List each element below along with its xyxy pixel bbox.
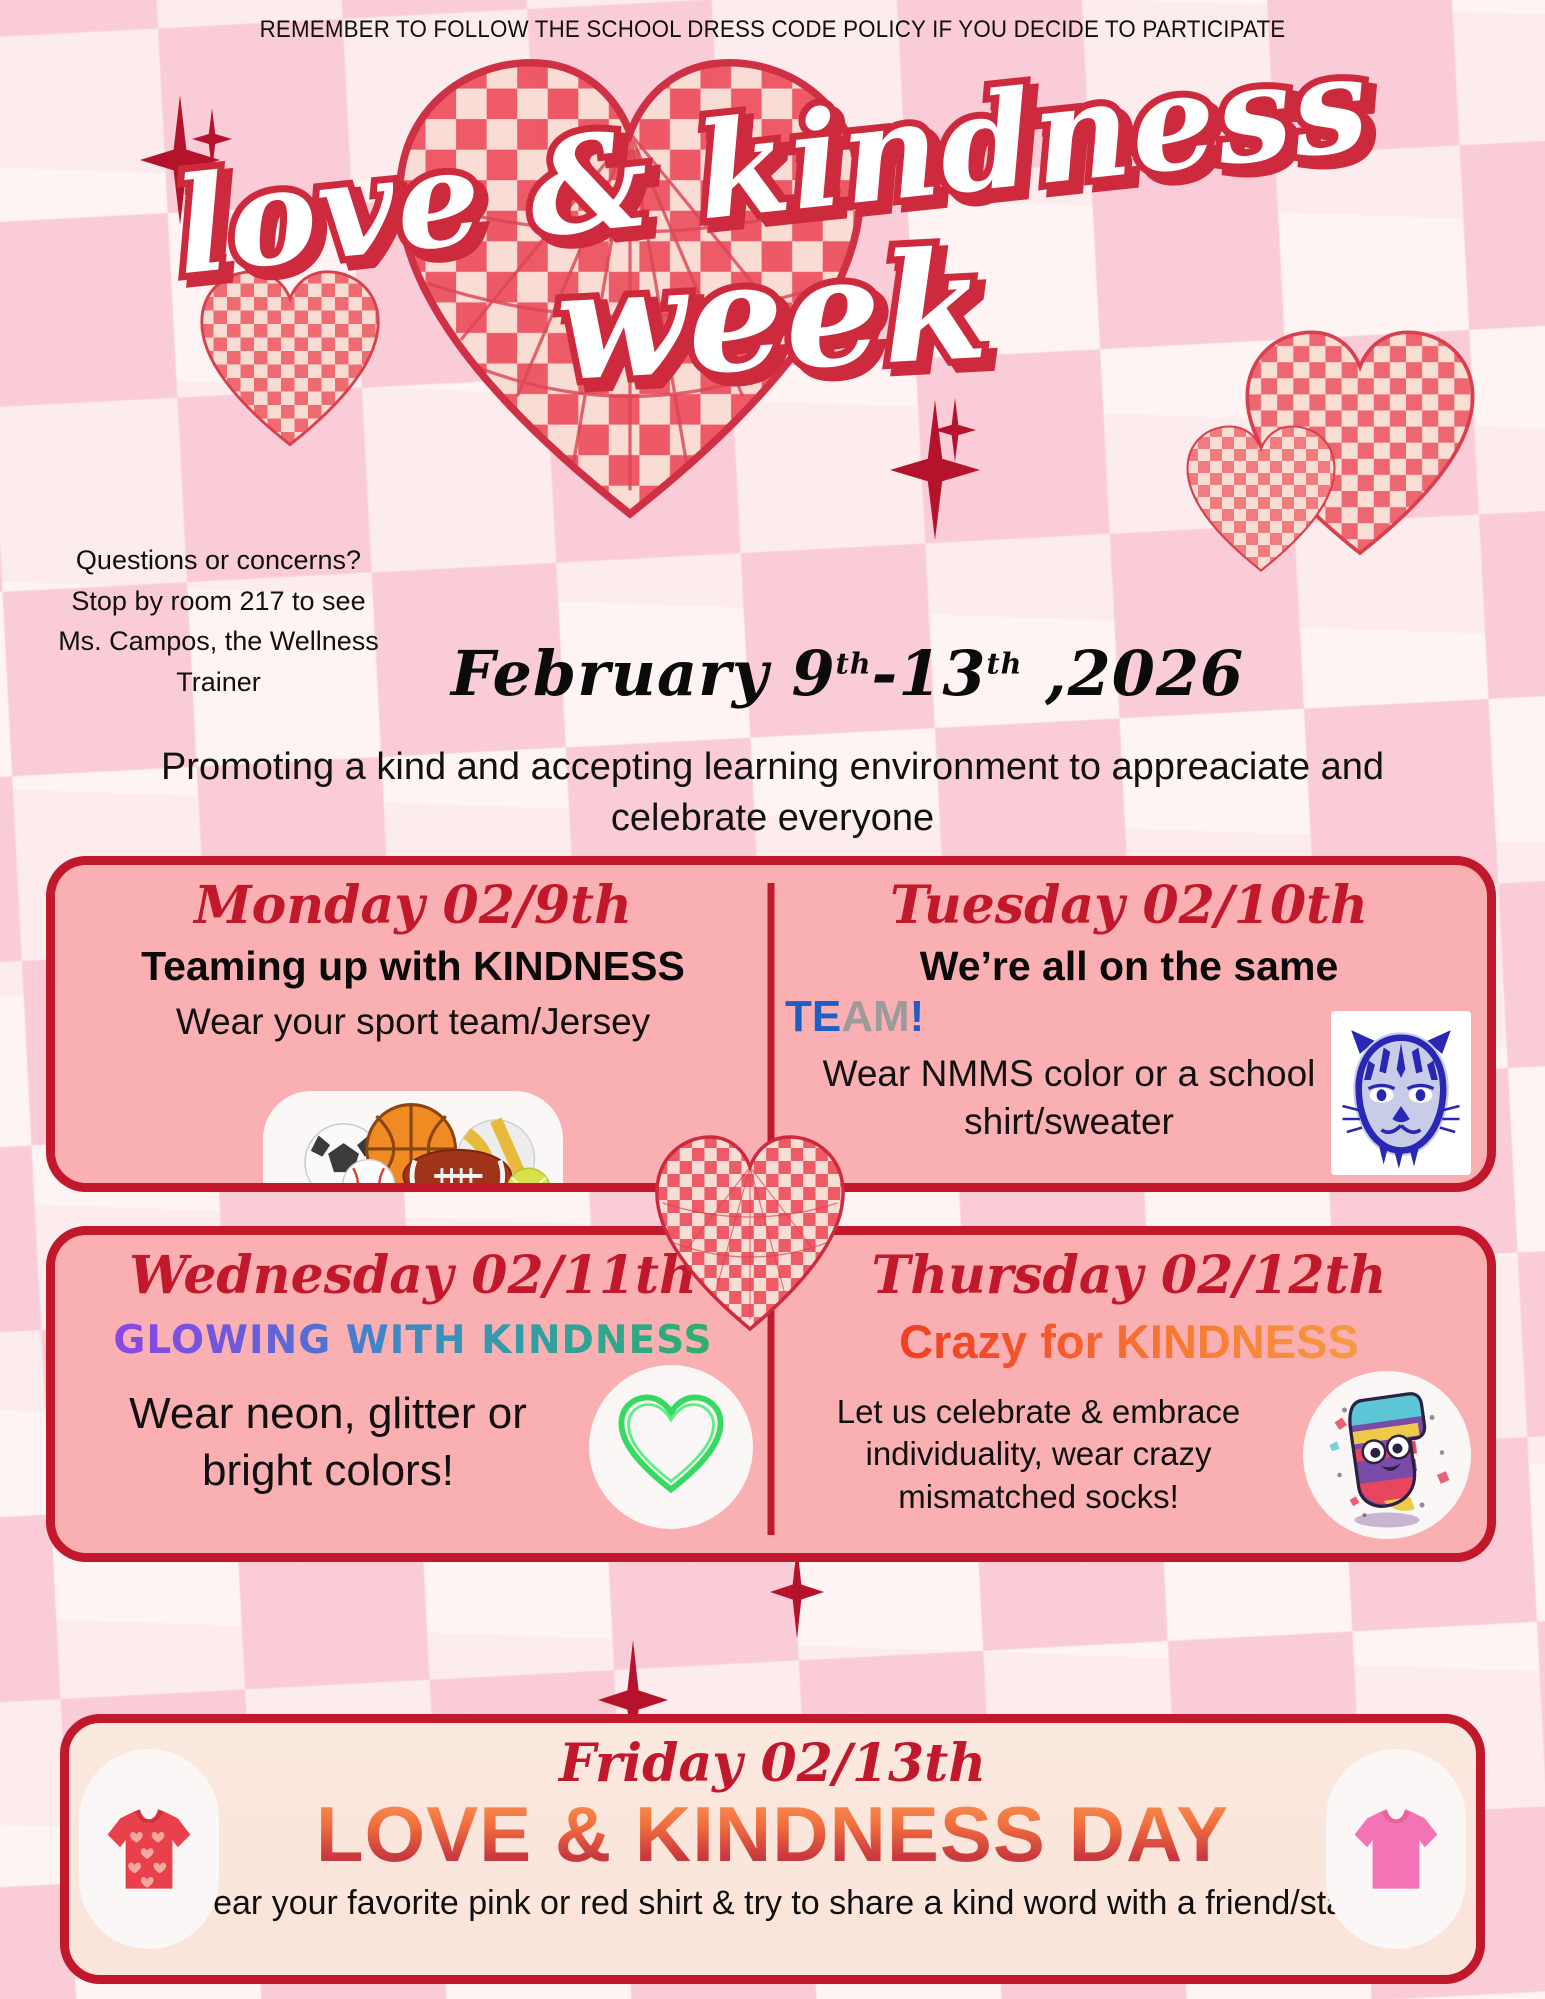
- flyer-poster: REMEMBER TO FOLLOW THE SCHOOL DRESS CODE…: [0, 0, 1545, 1999]
- day-card-row-2: Wednesday 02/11th GLOWING WITH KINDNESS …: [46, 1226, 1496, 1562]
- date-dash: -13: [872, 637, 987, 710]
- day-name-tuesday: Tuesday 02/10th: [785, 879, 1473, 934]
- date-sup2: th: [987, 646, 1023, 680]
- day-name-wednesday: Wednesday 02/11th: [69, 1249, 757, 1304]
- day-card-wednesday: Wednesday 02/11th GLOWING WITH KINDNESS …: [55, 1235, 771, 1553]
- day-body-monday: Wear your sport team/Jersey: [69, 998, 757, 1047]
- day-card-monday: Monday 02/9th Teaming up with KINDNESS W…: [55, 865, 771, 1183]
- tiger-mascot-icon: [1331, 1011, 1471, 1175]
- sports-balls-icon: [263, 1091, 563, 1192]
- day-headline-wednesday: GLOWING WITH KINDNESS: [113, 1318, 712, 1363]
- friday-big-headline: LOVE & KINDNESS DAY: [69, 1789, 1476, 1880]
- date-range: February 9th-13th ,2026: [0, 637, 1545, 710]
- neon-heart-icon: [589, 1365, 753, 1529]
- tagline: Promoting a kind and accepting learning …: [80, 742, 1465, 845]
- day-headline-tuesday: We’re all on the same: [785, 944, 1473, 990]
- red-tshirt-icon: [79, 1749, 219, 1949]
- day-headline-thursday: Crazy for KINDNESS: [899, 1314, 1359, 1369]
- date-year: ,2026: [1022, 637, 1244, 710]
- pink-tshirt-icon: [1326, 1749, 1466, 1949]
- date-sup1: th: [836, 646, 872, 680]
- day-card-thursday: Thursday 02/12th Crazy for KINDNESS Let …: [771, 1235, 1487, 1553]
- team-te: TE: [785, 992, 841, 1041]
- day-headline-friday: LOVE & KINDNESS DAY: [316, 1789, 1229, 1880]
- date-day1: 9: [791, 637, 835, 710]
- day-card-tuesday: Tuesday 02/10th We’re all on the same TE…: [771, 865, 1487, 1183]
- date-month: February: [451, 637, 792, 710]
- day-card-row-1: Monday 02/9th Teaming up with KINDNESS W…: [46, 856, 1496, 1192]
- team-am: AM: [841, 992, 909, 1041]
- poster-title: love & kindness love & kindness week wee…: [0, 60, 1545, 450]
- day-body-friday: Wear your favorite pink or red shirt & t…: [149, 1879, 1396, 1928]
- crazy-sock-icon: [1303, 1371, 1471, 1539]
- day-name-friday: Friday 02/13th: [69, 1733, 1476, 1794]
- day-name-thursday: Thursday 02/12th: [785, 1249, 1473, 1304]
- team-bang: !: [910, 992, 925, 1041]
- day-name-monday: Monday 02/9th: [69, 879, 757, 934]
- day-card-friday: Friday 02/13th LOVE & KINDNESS DAY Wear …: [60, 1714, 1485, 1984]
- day-headline-monday: Teaming up with KINDNESS: [69, 944, 757, 990]
